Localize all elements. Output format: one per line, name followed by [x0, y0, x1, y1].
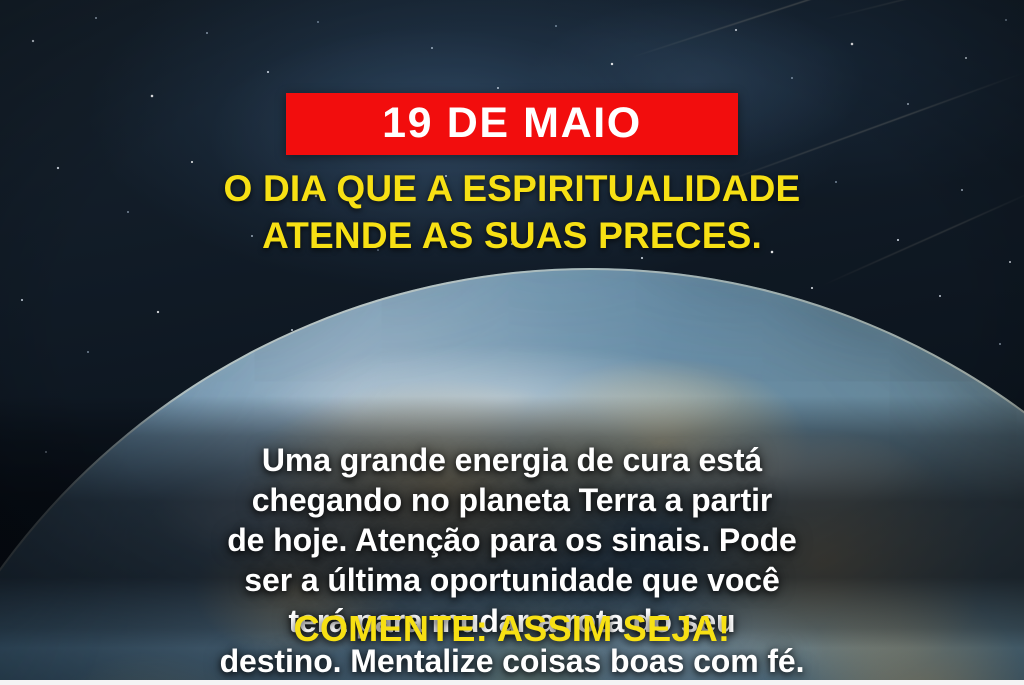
body-line-1: Uma grande energia de cura está [62, 440, 962, 480]
headline-line-2: ATENDE AS SUAS PRECES. [0, 212, 1024, 259]
body-line-2: chegando no planeta Terra a partir [62, 480, 962, 520]
date-banner: 19 DE MAIO [286, 93, 738, 155]
body-line-3: de hoje. Atenção para os sinais. Pode [62, 520, 962, 560]
body-line-4: ser a última oportunidade que você [62, 560, 962, 600]
call-to-action-text: COMENTE: ASSIM SEJA! [0, 611, 1024, 647]
headline: O DIA QUE A ESPIRITUALIDADE ATENDE AS SU… [0, 165, 1024, 260]
poster-content: 19 DE MAIO O DIA QUE A ESPIRITUALIDADE A… [0, 0, 1024, 685]
date-banner-text: 19 DE MAIO [382, 102, 642, 145]
headline-line-1: O DIA QUE A ESPIRITUALIDADE [0, 165, 1024, 212]
poster-canvas: 19 DE MAIO O DIA QUE A ESPIRITUALIDADE A… [0, 0, 1024, 685]
bottom-edge-strip [0, 680, 1024, 685]
